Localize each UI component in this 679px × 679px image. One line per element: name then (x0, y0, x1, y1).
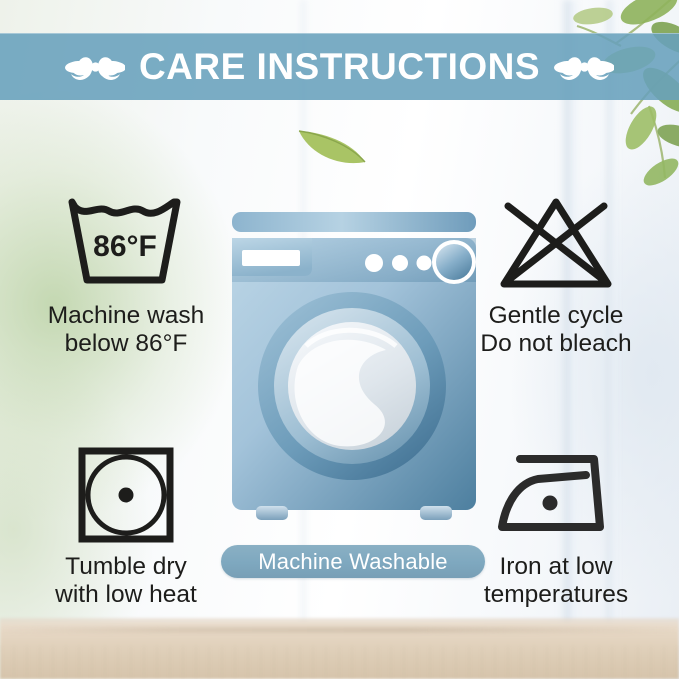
washing-machine-illustration (228, 206, 480, 536)
washer-foot (420, 506, 452, 520)
page-title: CARE INSTRUCTIONS (139, 48, 540, 85)
tumble-dry-low-icon-wrap (74, 443, 178, 547)
washer-foot (256, 506, 288, 520)
table-edge (0, 628, 679, 632)
instruction-tumble-dry-low: Tumble dry with low heat (14, 443, 238, 610)
instruction-label: Machine wash below 86°F (48, 302, 205, 359)
triangle-crossed-out-icon (494, 194, 618, 294)
tumble-dry-low-icon (74, 445, 178, 545)
fleur-de-lis-ornament-icon (554, 44, 614, 90)
wash-temperature-value: 86°F (93, 230, 157, 263)
washer-button (417, 256, 432, 271)
floating-leaf-icon (296, 122, 368, 168)
machine-washable-badge: Machine Washable (221, 545, 485, 578)
instruction-machine-wash: 86°F Machine wash below 86°F (14, 192, 238, 359)
iron-low-heat-icon-wrap (494, 443, 618, 547)
detergent-drawer-slot (242, 250, 300, 266)
washer-button (365, 254, 383, 272)
table-grain (0, 645, 679, 679)
washer-button (392, 255, 408, 271)
program-dial (436, 244, 472, 280)
machine-washable-badge-label: Machine Washable (258, 551, 447, 573)
fleur-de-lis-ornament-icon (65, 44, 125, 90)
instruction-label: Gentle cycle Do not bleach (480, 302, 631, 359)
triangle-crossed-out-icon-wrap (494, 192, 618, 296)
instruction-label: Tumble dry with low heat (55, 553, 197, 610)
washer-lid (232, 212, 476, 232)
header-banner: CARE INSTRUCTIONS (0, 33, 679, 100)
iron-low-heat-icon (494, 445, 618, 545)
wash-tub-icon-wrap: 86°F (64, 192, 188, 296)
instruction-label: Iron at low temperatures (484, 553, 628, 610)
care-instructions-infographic: CARE INSTRUCTIONS 86°F Machine wash belo… (0, 0, 679, 679)
wash-tub-icon: 86°F (64, 194, 188, 294)
